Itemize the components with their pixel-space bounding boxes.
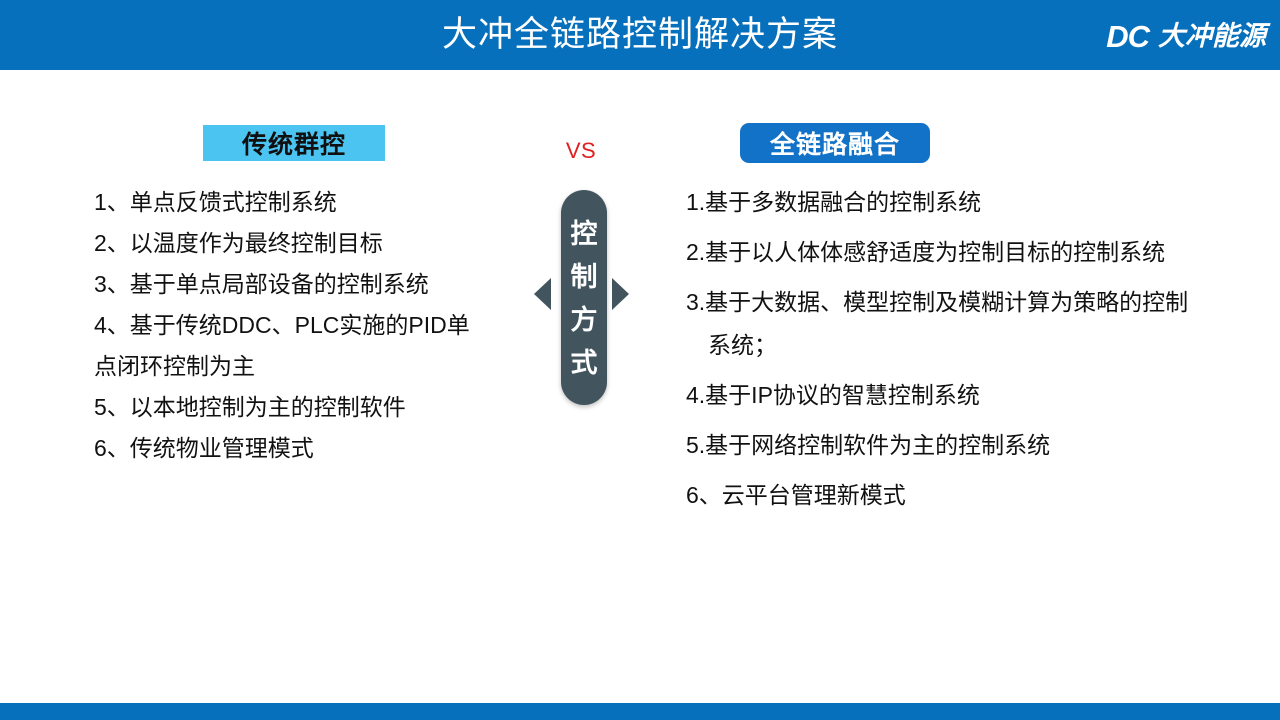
list-item: 3.基于大数据、模型控制及模糊计算为策略的控制 (686, 282, 1280, 323)
company-logo: DC 大冲能源 (1106, 16, 1266, 56)
logo-mark-dc: DC (1106, 21, 1149, 52)
list-item: 5.基于网络控制软件为主的控制系统 (686, 425, 1280, 466)
list-item: 1.基于多数据融合的控制系统 (686, 182, 1280, 223)
right-column-badge-label: 全链路融合 (770, 125, 900, 161)
list-item: 4.基于IP协议的智慧控制系统 (686, 375, 1280, 416)
pill-char: 制 (571, 256, 598, 299)
list-item: 3、基于单点局部设备的控制系统 (94, 264, 534, 305)
logo-company-name: 大冲能源 (1158, 23, 1266, 50)
left-column-badge: 传统群控 (203, 125, 385, 161)
list-item-continuation: 点闭环控制为主 (94, 346, 534, 387)
page-title: 大冲全链路控制解决方案 (0, 0, 1280, 70)
pill-char: 方 (571, 299, 598, 342)
right-column-badge: 全链路融合 (740, 123, 930, 163)
arrow-left-icon (534, 278, 551, 310)
right-column-list: 1.基于多数据融合的控制系统 2.基于以人体体感舒适度为控制目标的控制系统 3.… (686, 182, 1280, 525)
footer-bar (0, 703, 1280, 720)
list-item: 5、以本地控制为主的控制软件 (94, 387, 534, 428)
left-column-list: 1、单点反馈式控制系统 2、以温度作为最终控制目标 3、基于单点局部设备的控制系… (94, 182, 534, 469)
pill-char: 控 (571, 213, 598, 256)
list-item: 2、以温度作为最终控制目标 (94, 223, 534, 264)
arrow-right-icon (612, 278, 629, 310)
slide-canvas: 大冲全链路控制解决方案 DC 大冲能源 传统群控 VS 全链路融合 1、单点反馈… (0, 0, 1280, 720)
pill-char: 式 (571, 342, 598, 385)
control-method-pill: 控 制 方 式 (561, 190, 607, 405)
list-item: 1、单点反馈式控制系统 (94, 182, 534, 223)
list-item: 6、传统物业管理模式 (94, 428, 534, 469)
left-column-badge-label: 传统群控 (242, 125, 346, 161)
vs-label: VS (556, 138, 606, 164)
list-item-continuation-text: 系统； (708, 332, 777, 358)
list-item-continuation: 系统； (686, 325, 1280, 366)
list-item: 2.基于以人体体感舒适度为控制目标的控制系统 (686, 232, 1280, 273)
list-item: 4、基于传统DDC、PLC实施的PID单 (94, 305, 534, 346)
list-item: 6、云平台管理新模式 (686, 475, 1280, 516)
